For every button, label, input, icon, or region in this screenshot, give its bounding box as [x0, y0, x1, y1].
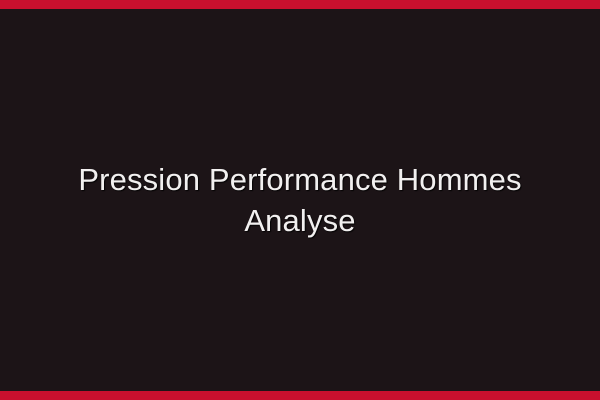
- title-block: Pression Performance Hommes Analyse: [40, 159, 560, 241]
- slide-title: Pression Performance Hommes Analyse: [40, 159, 560, 241]
- slide-content-area: Pression Performance Hommes Analyse: [0, 9, 600, 391]
- accent-bar-bottom: [0, 391, 600, 400]
- accent-bar-top: [0, 0, 600, 9]
- title-slide: Pression Performance Hommes Analyse: [0, 0, 600, 400]
